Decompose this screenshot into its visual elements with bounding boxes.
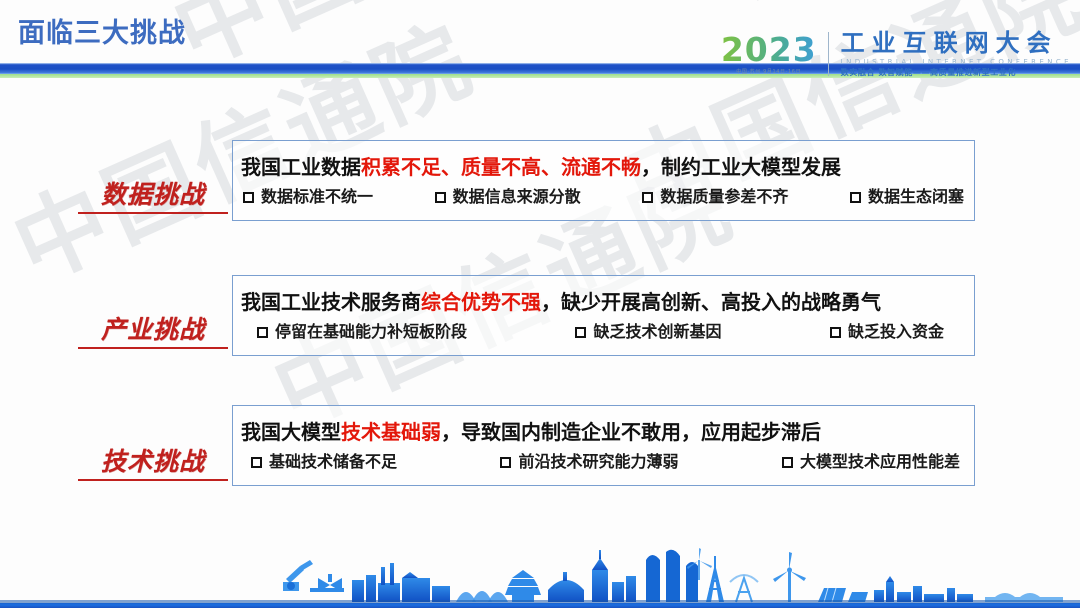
checkbox-icon bbox=[782, 457, 793, 468]
logo-name-cn: 工业互联网大会 bbox=[841, 30, 1072, 56]
checkbox-icon bbox=[500, 457, 511, 468]
small-buildings-icon bbox=[874, 576, 973, 602]
challenge-card: 我国工业技术服务商综合优势不强，缺少开展高创新、高投入的战略勇气 停留在基础能力… bbox=[232, 275, 975, 356]
challenge-item-list: 停留在基础能力补短板阶段 缺乏技术创新基因 缺乏投入资金 bbox=[233, 319, 974, 355]
robot-arm-icon bbox=[283, 560, 313, 591]
water-band bbox=[0, 603, 1080, 608]
challenge-label: 产业挑战 bbox=[78, 315, 228, 349]
logo-name-en: INDUSTRIAL INTERNET CONFERENCE bbox=[841, 57, 1072, 67]
challenge-item-label: 数据信息来源分散 bbox=[453, 186, 581, 208]
signal-tower-icon bbox=[730, 575, 758, 602]
challenge-item: 数据质量参差不齐 bbox=[642, 186, 788, 208]
headline-prefix: 我国大模型 bbox=[241, 420, 341, 444]
challenge-headline: 我国工业数据积累不足、质量不高、流通不畅，制约工业大模型发展 bbox=[233, 141, 974, 184]
challenge-item: 数据生态闭塞 bbox=[850, 186, 964, 208]
challenge-item-label: 缺乏技术创新基因 bbox=[593, 321, 721, 343]
logo-year-block: 2023 中国·苏州 9月14日-16日 bbox=[721, 33, 828, 76]
dome-building-icon bbox=[548, 572, 584, 602]
checkbox-icon bbox=[830, 327, 841, 338]
factory-icon bbox=[352, 563, 450, 602]
logo-date: 中国·苏州 9月14日-16日 bbox=[736, 69, 801, 76]
headline-prefix: 我国工业数据 bbox=[241, 155, 361, 179]
challenge-item: 数据标准不统一 bbox=[243, 186, 373, 208]
challenge-item: 数据信息来源分散 bbox=[435, 186, 581, 208]
tower-icon bbox=[706, 556, 724, 602]
challenge-item-list: 数据标准不统一 数据信息来源分散 数据质量参差不齐 数据生态闭塞 bbox=[233, 184, 974, 220]
challenge-card: 我国大模型技术基础弱，导致国内制造企业不敢用，应用起步滞后 基础技术储备不足 前… bbox=[232, 405, 975, 486]
pagoda-icon bbox=[505, 570, 541, 602]
challenge-item: 前沿技术研究能力薄弱 bbox=[500, 451, 678, 473]
checkbox-icon bbox=[251, 457, 262, 468]
pipe-icon bbox=[310, 574, 344, 592]
challenge-item-label: 停留在基础能力补短板阶段 bbox=[275, 321, 467, 343]
slide-canvas: 中国信通院 中国信通院 中国信通院 中国信通院 中国信通院 面临三大挑战 202… bbox=[0, 0, 1080, 608]
headline-highlight: 技术基础弱 bbox=[341, 420, 441, 444]
challenge-item: 基础技术储备不足 bbox=[251, 451, 397, 473]
challenge-item-label: 基础技术储备不足 bbox=[269, 451, 397, 473]
headline-highlight: 综合优势不强 bbox=[421, 290, 541, 314]
slide-header: 面临三大挑战 2023 中国·苏州 9月14日-16日 工业互联网大会 INDU… bbox=[0, 0, 1080, 92]
challenge-label: 技术挑战 bbox=[78, 447, 228, 481]
checkbox-icon bbox=[575, 327, 586, 338]
skyscraper-icon bbox=[592, 550, 636, 602]
challenge-label: 数据挑战 bbox=[78, 180, 228, 214]
challenge-item: 停留在基础能力补短板阶段 bbox=[257, 321, 467, 343]
page-title: 面临三大挑战 bbox=[18, 18, 186, 50]
checkbox-icon bbox=[642, 192, 653, 203]
challenge-headline: 我国大模型技术基础弱，导致国内制造企业不敢用，应用起步滞后 bbox=[233, 406, 974, 449]
challenge-item-label: 缺乏投入资金 bbox=[848, 321, 944, 343]
skyline-svg bbox=[0, 548, 1080, 608]
challenge-item-label: 数据标准不统一 bbox=[261, 186, 373, 208]
logo-slogan: 数实融合 数智赋能——高质量推进新型工业化 bbox=[841, 67, 1072, 78]
headline-prefix: 我国工业技术服务商 bbox=[241, 290, 421, 314]
challenge-card: 我国工业数据积累不足、质量不高、流通不畅，制约工业大模型发展 数据标准不统一 数… bbox=[232, 140, 975, 221]
challenge-item: 大模型技术应用性能差 bbox=[782, 451, 960, 473]
skyline-graphic bbox=[0, 548, 1080, 608]
headline-suffix: ，缺少开展高创新、高投入的战略勇气 bbox=[541, 290, 881, 314]
headline-suffix: ，导致国内制造企业不敢用，应用起步滞后 bbox=[441, 420, 821, 444]
wind-turbine-icon bbox=[773, 552, 806, 602]
checkbox-icon bbox=[850, 192, 861, 203]
challenge-item-label: 大模型技术应用性能差 bbox=[800, 451, 960, 473]
headline-suffix: ，制约工业大模型发展 bbox=[641, 155, 841, 179]
solar-panel-icon bbox=[818, 588, 868, 602]
challenge-item-list: 基础技术储备不足 前沿技术研究能力薄弱 大模型技术应用性能差 bbox=[233, 449, 974, 485]
challenge-item-label: 数据质量参差不齐 bbox=[660, 186, 788, 208]
headline-highlight: 积累不足、质量不高、流通不畅 bbox=[361, 155, 641, 179]
logo-year: 2023 bbox=[721, 33, 817, 66]
challenge-item-label: 数据生态闭塞 bbox=[868, 186, 964, 208]
logo-name-block: 工业互联网大会 INDUSTRIAL INTERNET CONFERENCE 数… bbox=[829, 30, 1072, 78]
checkbox-icon bbox=[257, 327, 268, 338]
checkbox-icon bbox=[435, 192, 446, 203]
checkbox-icon bbox=[243, 192, 254, 203]
challenge-item-label: 前沿技术研究能力薄弱 bbox=[518, 451, 678, 473]
challenge-item: 缺乏技术创新基因 bbox=[575, 321, 721, 343]
challenge-headline: 我国工业技术服务商综合优势不强，缺少开展高创新、高投入的战略勇气 bbox=[233, 276, 974, 319]
challenge-item: 缺乏投入资金 bbox=[830, 321, 944, 343]
conference-logo: 2023 中国·苏州 9月14日-16日 工业互联网大会 INDUSTRIAL … bbox=[721, 26, 1072, 82]
twin-tower-icon bbox=[646, 550, 698, 602]
